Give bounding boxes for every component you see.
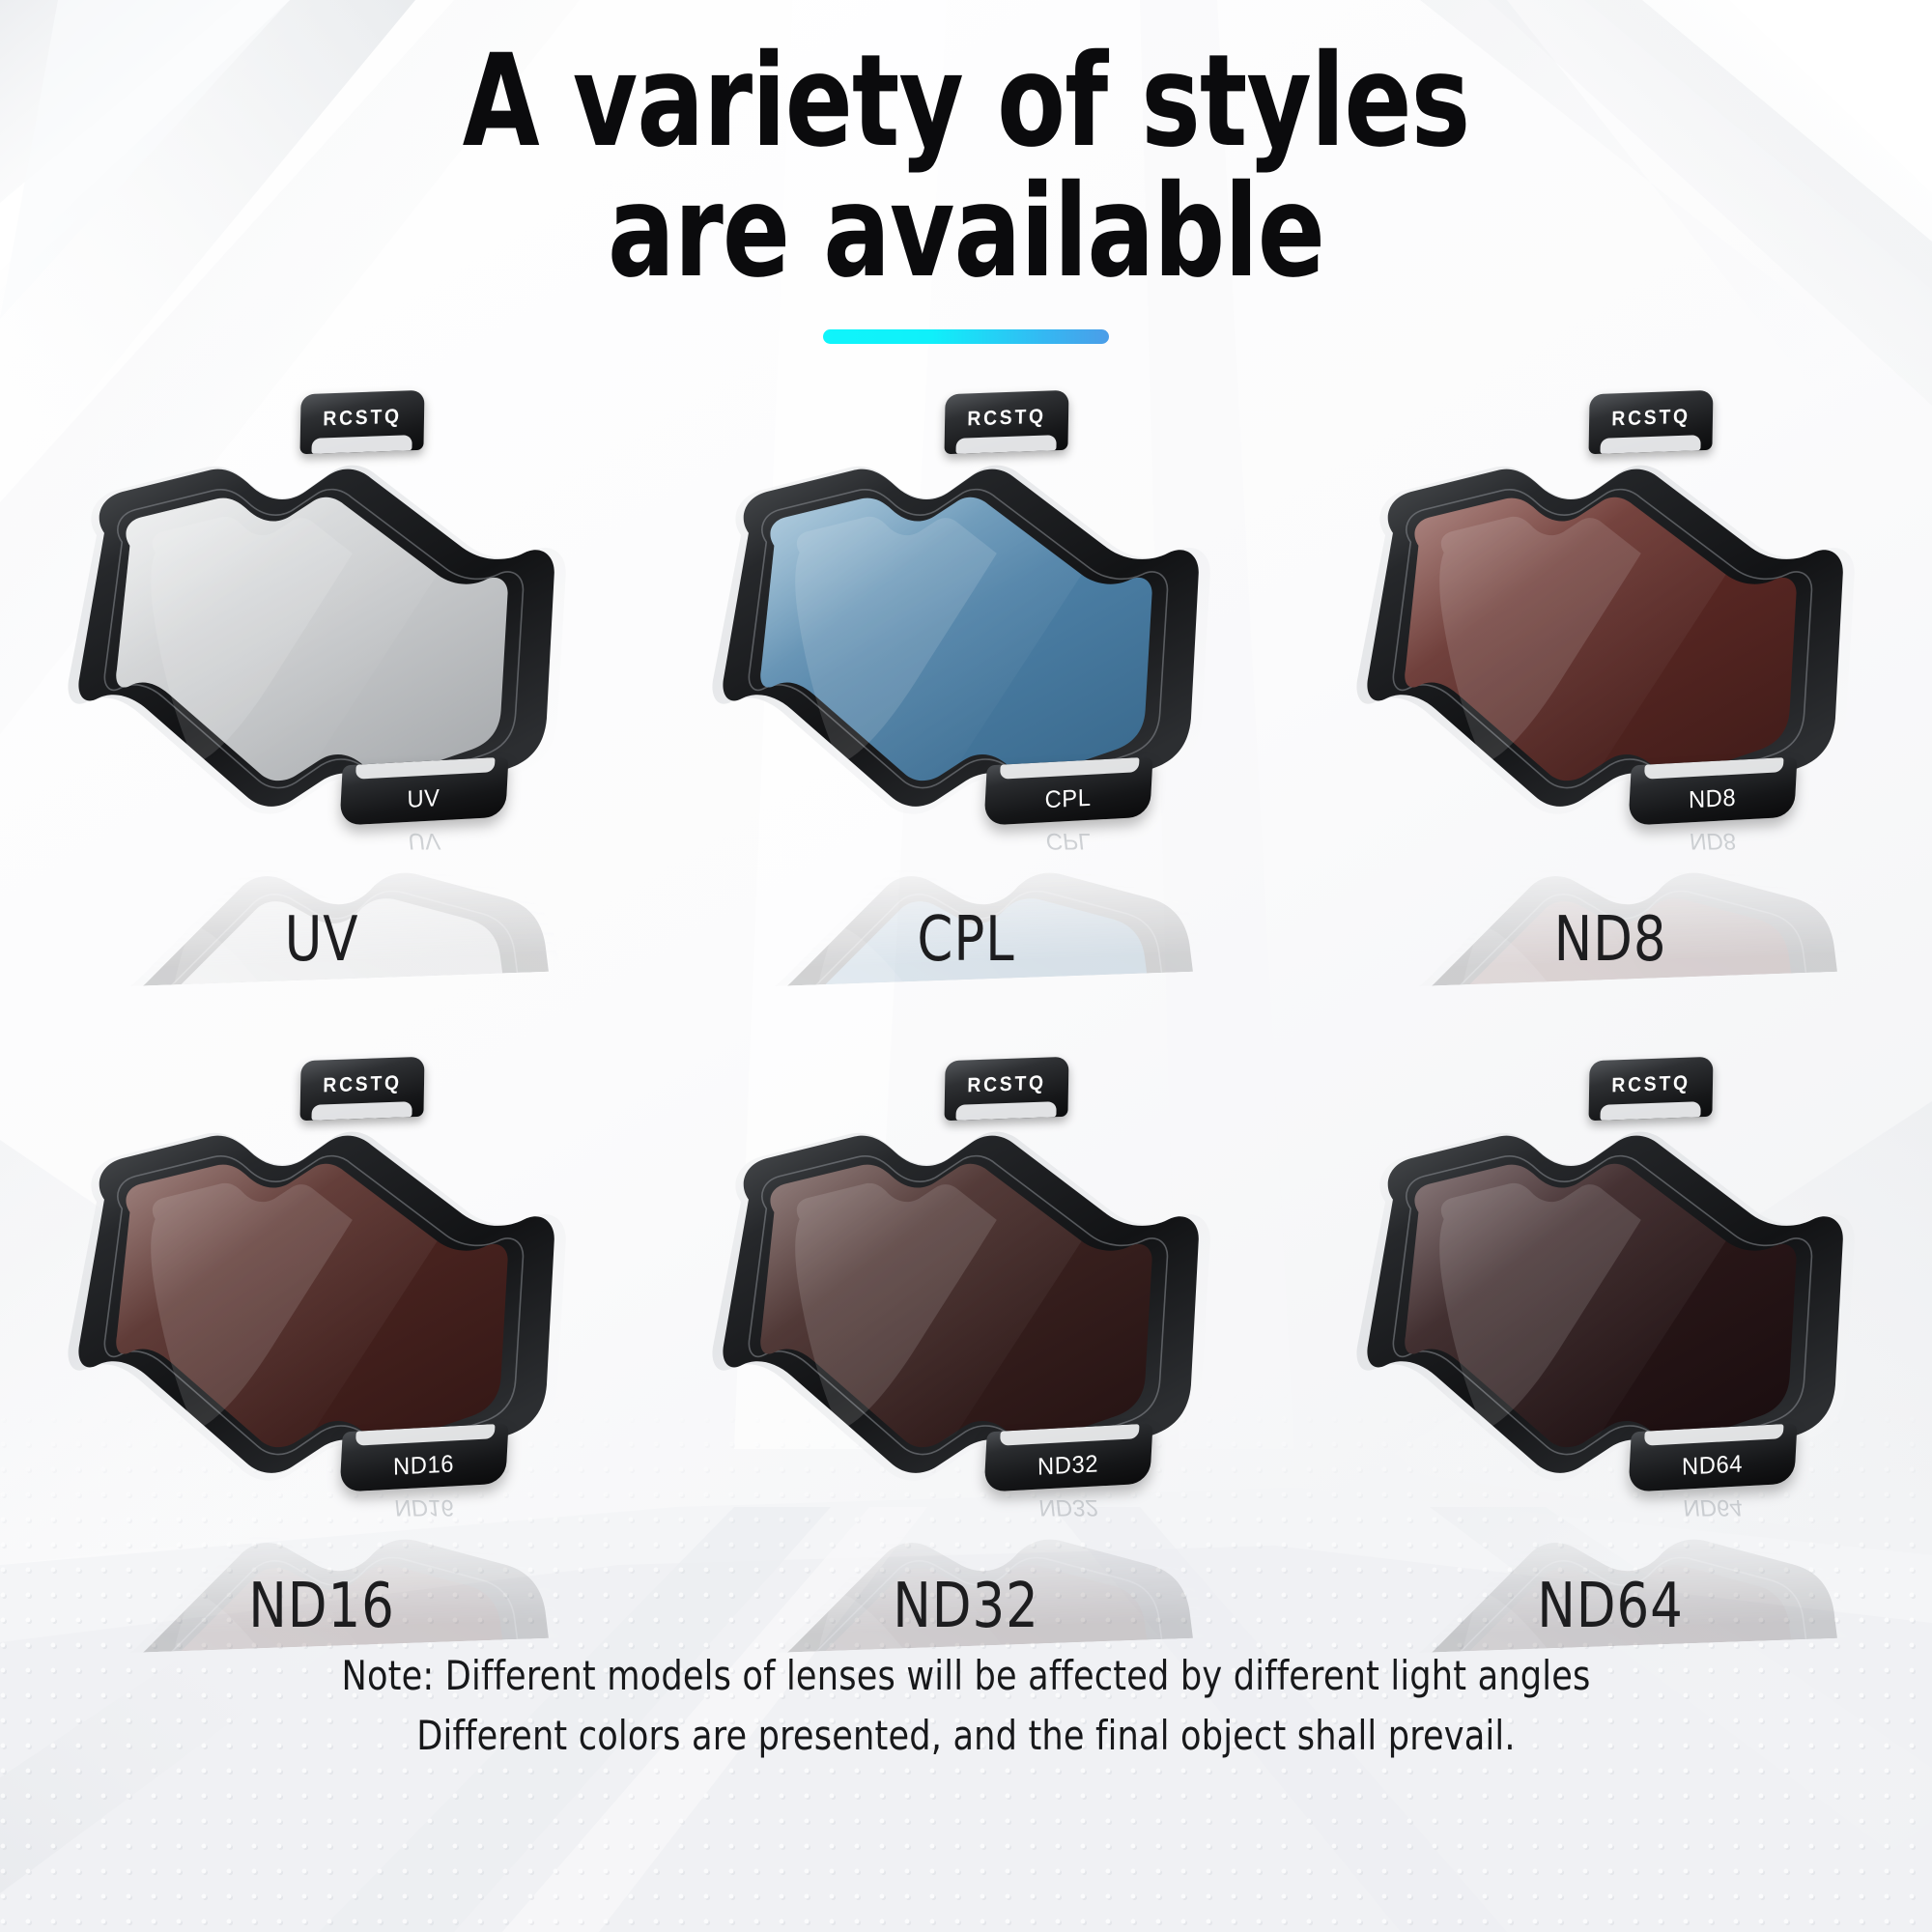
product-item-nd16[interactable]: RCSTQ ND16 xyxy=(51,1065,592,1567)
brand-logo: RCSTQ xyxy=(305,405,419,432)
product-caption: ND64 xyxy=(1361,1571,1859,1642)
model-tab-label: ND32 xyxy=(989,1448,1148,1485)
product-grid: RCSTQ UV xyxy=(0,390,1932,1723)
product-item-uv[interactable]: RCSTQ UV xyxy=(51,398,592,900)
model-tab-label: UV xyxy=(345,781,503,818)
model-tab: ND32 xyxy=(983,1423,1152,1492)
brand-logo: RCSTQ xyxy=(305,1071,419,1098)
product-caption: UV xyxy=(73,904,571,976)
model-tab: ND64 xyxy=(1628,1423,1797,1492)
brand-logo: RCSTQ xyxy=(950,1071,1064,1098)
product-cell-nd8: RCSTQ ND8 xyxy=(1288,390,1932,1057)
brand-logo: RCSTQ xyxy=(950,405,1064,432)
model-tab-label: CPL xyxy=(989,781,1148,818)
brand-clip: RCSTQ xyxy=(300,1057,425,1122)
product-caption: ND16 xyxy=(73,1571,571,1642)
product-cell-uv: RCSTQ UV xyxy=(0,390,644,1057)
product-cell-cpl: RCSTQ CPL xyxy=(644,390,1289,1057)
page-title: A variety of styles are available xyxy=(126,37,1806,297)
brand-logo: RCSTQ xyxy=(1594,405,1708,432)
brand-clip: RCSTQ xyxy=(1588,1057,1713,1122)
brand-logo: RCSTQ xyxy=(1594,1071,1708,1098)
model-tab: ND8 xyxy=(1628,756,1797,825)
product-caption: ND8 xyxy=(1361,904,1859,976)
model-tab-label: ND64 xyxy=(1633,1448,1791,1485)
brand-clip: RCSTQ xyxy=(300,390,425,455)
model-tab-label: ND8 xyxy=(1633,781,1791,818)
product-item-cpl[interactable]: RCSTQ CPL xyxy=(696,398,1236,900)
product-item-nd8[interactable]: RCSTQ ND8 xyxy=(1340,398,1881,900)
title-accent-bar xyxy=(823,329,1109,344)
product-cell-nd64: RCSTQ ND64 xyxy=(1288,1057,1932,1723)
product-item-nd64[interactable]: RCSTQ ND64 xyxy=(1340,1065,1881,1567)
product-caption: ND32 xyxy=(717,1571,1214,1642)
product-cell-nd32: RCSTQ ND32 xyxy=(644,1057,1289,1723)
brand-clip: RCSTQ xyxy=(944,1057,1068,1122)
header: A variety of styles are available xyxy=(0,37,1932,344)
product-cell-nd16: RCSTQ ND16 xyxy=(0,1057,644,1723)
model-tab-label: ND16 xyxy=(345,1448,503,1485)
brand-clip: RCSTQ xyxy=(944,390,1068,455)
model-tab: ND16 xyxy=(340,1423,509,1492)
product-item-nd32[interactable]: RCSTQ ND32 xyxy=(696,1065,1236,1567)
brand-clip: RCSTQ xyxy=(1588,390,1713,455)
model-tab: CPL xyxy=(983,756,1152,825)
footer-note: Note: Different models of lenses will be… xyxy=(68,1646,1864,1766)
model-tab: UV xyxy=(340,756,509,825)
product-caption: CPL xyxy=(717,904,1214,976)
